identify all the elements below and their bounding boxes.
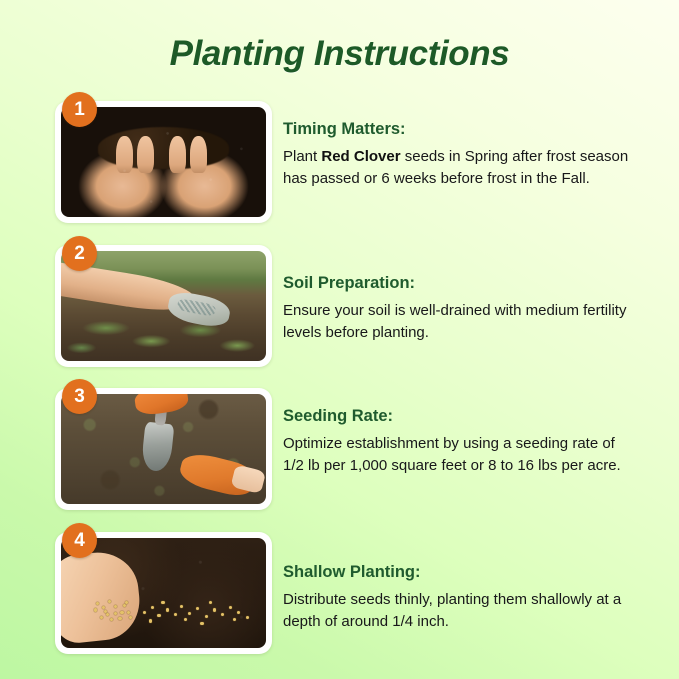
planting-instructions-infographic: Planting Instructions 1 Timing Matters: … [0, 0, 679, 679]
list-item: 2 Soil Preparation: Ensure your soil is … [0, 236, 679, 376]
orange-glove-bottom-decoration [177, 449, 257, 499]
step-text-column: Seeding Rate: Optimize establishment by … [283, 407, 633, 476]
list-item: 4 Shallow Planting: Distribute seeds thi… [0, 523, 679, 663]
weeding-soil-photo [61, 251, 266, 361]
step-body-prefix: Plant [283, 148, 321, 165]
title-container: Planting Instructions [0, 34, 679, 74]
steps-list: 1 Timing Matters: Plant Red Clover seeds… [0, 92, 679, 666]
trowel-digging-photo [61, 394, 266, 504]
step-body: Ensure your soil is well-drained with me… [283, 300, 633, 344]
list-item: 3 Seeding Rate: Optimize establishment b… [0, 379, 679, 520]
step-number-badge: 4 [62, 523, 97, 558]
step-text-column: Timing Matters: Plant Red Clover seeds i… [283, 120, 633, 189]
seeds-in-hand-photo [61, 538, 266, 648]
soil-in-hands-photo [61, 107, 266, 217]
step-heading: Shallow Planting: [283, 563, 633, 583]
step-body-prefix: Distribute seeds thinly, planting them s… [283, 591, 621, 630]
step-body-emphasis: Red Clover [321, 148, 400, 165]
step-heading: Seeding Rate: [283, 407, 633, 427]
step-body-prefix: Ensure your soil is well-drained with me… [283, 302, 626, 341]
step-heading: Soil Preparation: [283, 274, 633, 294]
seeds-decoration [61, 538, 266, 648]
step-number-badge: 1 [62, 92, 97, 127]
page-title: Planting Instructions [170, 34, 510, 74]
step-body: Distribute seeds thinly, planting them s… [283, 589, 633, 633]
step-heading: Timing Matters: [283, 120, 633, 140]
trowel-decoration [141, 421, 175, 472]
step-body-prefix: Optimize establishment by using a seedin… [283, 435, 621, 474]
step-text-column: Shallow Planting: Distribute seeds thinl… [283, 563, 633, 632]
list-item: 1 Timing Matters: Plant Red Clover seeds… [0, 92, 679, 233]
step-body: Optimize establishment by using a seedin… [283, 433, 633, 477]
step-number-badge: 3 [62, 379, 97, 414]
fingers-decoration [114, 136, 212, 173]
garden-glove-decoration [165, 289, 231, 329]
step-number-badge: 2 [62, 236, 97, 271]
step-body: Plant Red Clover seeds in Spring after f… [283, 146, 633, 190]
step-text-column: Soil Preparation: Ensure your soil is we… [283, 274, 633, 343]
